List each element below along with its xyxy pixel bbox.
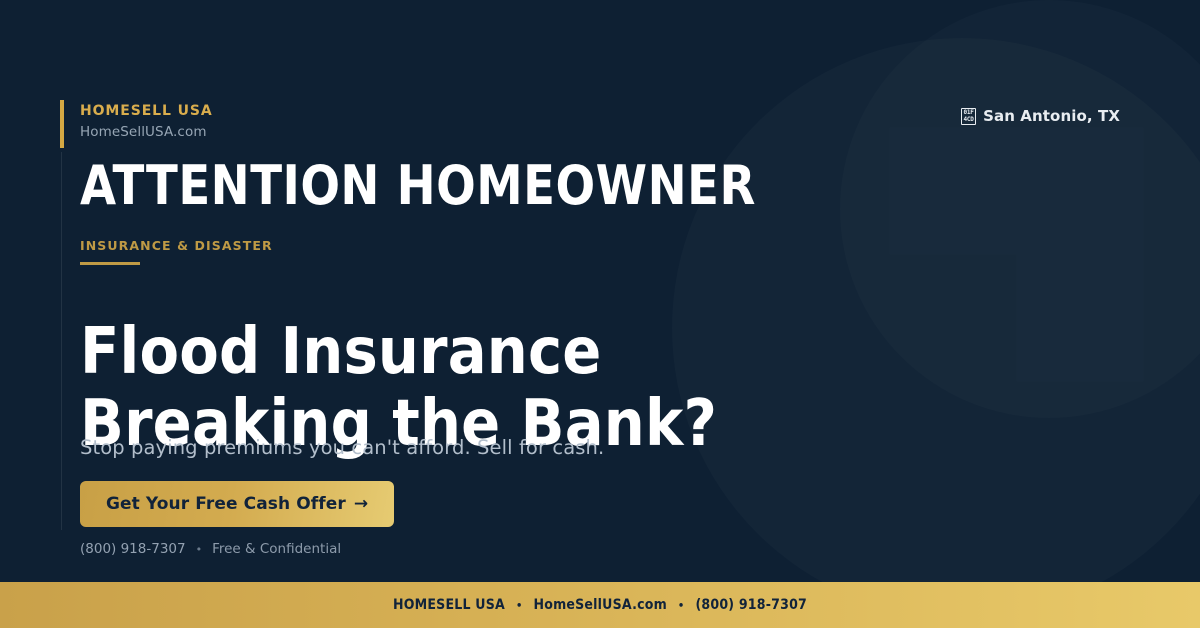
footer-brand: HOMESELL USA [393, 597, 505, 613]
brand-block: HOMESELL USA HomeSellUSA.com [80, 104, 213, 140]
brand-row: HOMESELL USA HomeSellUSA.com 01F 4CD San… [80, 104, 1120, 140]
headline-line-1: Flood Insurance [80, 317, 860, 389]
map-pin-icon-codepoint-bottom: 4CD [963, 116, 973, 123]
brand-name: HOMESELL USA [80, 104, 213, 118]
ad-canvas: HOMESELL USA HomeSellUSA.com 01F 4CD San… [0, 0, 1200, 628]
footer-inner: HOMESELL USA • HomeSellUSA.com • (800) 9… [393, 597, 807, 613]
trust-row: (800) 918-7307 • Free & Confidential [80, 541, 341, 557]
subheadline: Stop paying premiums you can't afford. S… [80, 436, 604, 459]
location-chip: 01F 4CD San Antonio, TX [961, 107, 1120, 125]
location-label: San Antonio, TX [983, 107, 1120, 125]
cta-label: Get Your Free Cash Offer [106, 494, 346, 514]
eyebrow-underline [80, 262, 140, 265]
footer-separator-1: • [516, 599, 523, 612]
brand-website[interactable]: HomeSellUSA.com [80, 126, 213, 140]
footer-website[interactable]: HomeSellUSA.com [533, 597, 666, 613]
map-pin-icon: 01F 4CD [961, 108, 976, 125]
arrow-right-icon: → [354, 494, 368, 514]
get-free-cash-offer-button[interactable]: Get Your Free Cash Offer → [80, 481, 394, 527]
trust-note: Free & Confidential [212, 541, 341, 557]
gold-accent-rail [60, 100, 64, 148]
trust-separator: • [196, 543, 203, 556]
footer-separator-2: • [678, 599, 685, 612]
ad-content: HOMESELL USA HomeSellUSA.com 01F 4CD San… [80, 0, 1120, 582]
vertical-divider-rail [61, 152, 62, 530]
footer-phone[interactable]: (800) 918-7307 [695, 597, 807, 613]
attention-banner: ATTENTION HOMEOWNER [80, 158, 756, 215]
footer-bar: HOMESELL USA • HomeSellUSA.com • (800) 9… [0, 582, 1200, 628]
category-eyebrow: INSURANCE & DISASTER [80, 238, 273, 253]
contact-phone[interactable]: (800) 918-7307 [80, 541, 186, 557]
map-pin-icon-codepoint-top: 01F [963, 109, 973, 116]
